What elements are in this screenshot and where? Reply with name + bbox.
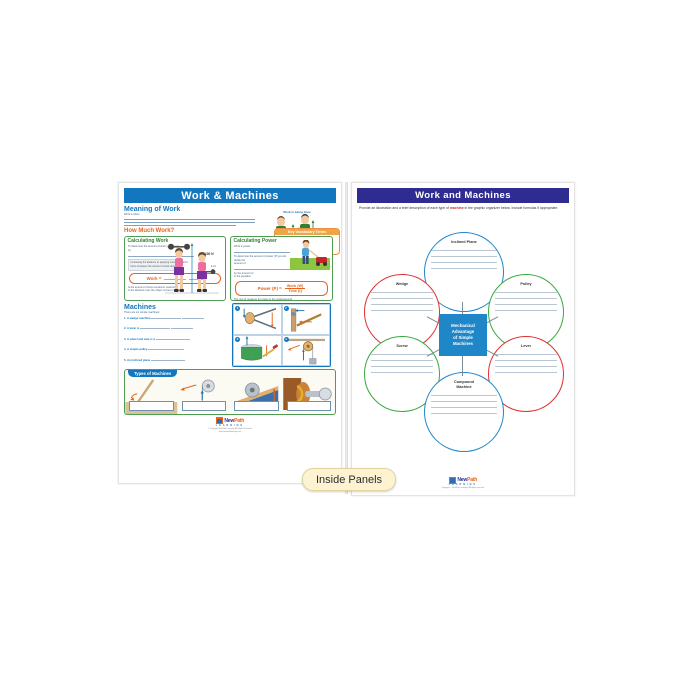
writing-line[interactable] (371, 354, 433, 355)
writing-line[interactable] (371, 304, 433, 305)
answer-blank[interactable] (140, 325, 170, 329)
writing-line[interactable] (371, 298, 433, 299)
writing-line[interactable] (124, 219, 256, 220)
bubble-writing-lines (425, 395, 503, 413)
power-formula-box: Power (P) = Work (W) Time (t) (235, 281, 328, 296)
weightlifter-illustration: 2 m 1 m 100 N (159, 241, 221, 297)
type-machine-cell (283, 376, 336, 414)
inside-panels-label: Inside Panels (316, 474, 382, 486)
writing-line[interactable] (431, 256, 497, 257)
diagram-number-badge: 3 (235, 337, 240, 342)
diagram-number-badge: 4 (284, 337, 289, 342)
writing-line[interactable] (124, 222, 256, 223)
writing-line[interactable] (124, 225, 236, 226)
type-machine-cell (230, 376, 283, 414)
svg-text:100 N: 100 N (205, 252, 214, 256)
writing-line[interactable] (371, 360, 433, 361)
left-panel: Work & Machines Meaning of Work Work is … (118, 182, 342, 484)
machine-diagram-cell: 2 (282, 304, 331, 335)
machine-item-label: 5. An inclined plane (124, 358, 150, 362)
writing-line[interactable] (431, 395, 497, 396)
wheel-and-axle-diagram (234, 305, 281, 334)
answer-blank[interactable] (148, 346, 184, 350)
machine-item-label: 3. A wheel and axle is a (124, 337, 155, 341)
diagram-number-badge: 2 (284, 306, 289, 311)
bubble-writing-lines (489, 292, 563, 310)
type-machine-answer-box[interactable] (182, 401, 227, 411)
list-item: 2. A lever is (124, 325, 228, 332)
meaning-prompt: Work is when (124, 213, 256, 217)
type-machine-answer-box[interactable] (129, 401, 174, 411)
worksheet-instructions: Provide an illustration and a brief desc… (359, 206, 567, 211)
instructions-keyword: machine (450, 206, 464, 210)
newpath-copyright: Copyright © NewPath Learning. All rights… (442, 487, 485, 490)
type-machine-answer-box[interactable] (234, 401, 279, 411)
calculating-work-box: Calculating Work (124, 236, 226, 301)
lawn-mower-illustration (290, 240, 330, 270)
machine-item-label: 2. A lever is (124, 326, 139, 330)
writing-line[interactable] (495, 366, 557, 367)
answer-blank[interactable] (156, 336, 190, 340)
list-item: 4. A simple pulley (124, 346, 228, 353)
svg-text:2 m: 2 m (183, 260, 189, 264)
writing-line[interactable] (495, 372, 557, 373)
svg-text:1 m: 1 m (211, 264, 217, 268)
writing-line[interactable] (431, 407, 497, 408)
screwdriver-lever-diagram (234, 336, 281, 365)
calc-power-footnote: The unit of measure for power is the jou… (234, 298, 329, 301)
list-item: 3. A wheel and axle is a (124, 336, 228, 343)
writing-line[interactable] (431, 401, 497, 402)
power-fraction: Work (W) Time (t) (285, 284, 306, 293)
writing-line[interactable] (495, 310, 557, 311)
bubble-writing-lines (365, 292, 439, 310)
types-of-machines-title: Types of Machines (128, 369, 177, 377)
machine-diagram-cell: 4 (282, 335, 331, 366)
bubble-writing-lines (489, 354, 563, 372)
type-machine-cell (178, 376, 231, 414)
types-of-machines-section: Types of Machines (124, 369, 336, 415)
calculating-power-box: Calculating Power (230, 236, 333, 301)
power-formula-denominator: Time (t) (288, 289, 302, 293)
writing-line[interactable] (495, 304, 557, 305)
list-item: 5. An inclined plane (124, 357, 228, 364)
answer-blank[interactable] (182, 315, 204, 319)
newpath-logo-left: NewPath LEARNING © Copyright NewPath Lea… (124, 417, 336, 434)
writing-line[interactable] (371, 372, 433, 373)
instructions-part-1: Provide an illustration and a brief desc… (359, 206, 450, 210)
svg-text:Work is being done: Work is being done (283, 210, 311, 214)
right-panel-title: Work and Machines (357, 188, 569, 203)
bubble-writing-lines (425, 250, 503, 268)
machines-section: Machines There are six simple machines: … (124, 303, 228, 367)
newpath-website: www.newpathlearning.com (219, 431, 242, 434)
type-machine-answer-box[interactable] (287, 401, 332, 411)
diagram-number-badge: 1 (235, 306, 240, 311)
writing-line[interactable] (431, 262, 497, 263)
pulley-diagram (283, 336, 330, 365)
type-machine-cell (125, 376, 178, 414)
bubble-label: Inclined Plane (425, 233, 503, 245)
answer-blank[interactable] (151, 315, 181, 319)
bubble-compound-machine[interactable]: Compound Machine (424, 372, 504, 452)
machines-heading: Machines (124, 304, 228, 311)
machines-diagram-grid: 1 2 (232, 303, 331, 367)
inside-panels-badge: Inside Panels (302, 468, 396, 491)
writing-line[interactable] (371, 292, 433, 293)
writing-line[interactable] (495, 292, 557, 293)
writing-line[interactable] (431, 268, 497, 269)
poster-spread: Work & Machines Meaning of Work Work is … (118, 182, 582, 494)
power-formula-label: Power (P) = (258, 286, 282, 291)
center-concept-box: Mechanical Advantage of Simple Machines (439, 314, 487, 356)
calc-power-line-4: in the equation (234, 275, 329, 279)
meaning-of-work-writing-lines: Work is when (124, 213, 256, 226)
list-item: 1. A wedge machine (124, 315, 228, 322)
newpath-logo-mark (216, 417, 223, 424)
poster-canvas: Work & Machines Meaning of Work Work is … (0, 0, 700, 700)
writing-line[interactable] (371, 366, 433, 367)
machine-item-label: 1. A wedge machine (124, 316, 151, 320)
right-panel: Work and Machines Provide an illustratio… (351, 182, 575, 496)
writing-line[interactable] (431, 413, 497, 414)
right-panel-body: Provide an illustration and a brief desc… (352, 206, 574, 492)
machines-list: 1. A wedge machine 2. A lever is 3. A wh (124, 315, 228, 364)
center-label-line: Machines (453, 341, 473, 347)
hammer-lever-diagram (283, 305, 330, 334)
instructions-part-2: in the graphic organizer below. Include … (464, 206, 558, 210)
machine-item-label: 4. A simple pulley (124, 347, 147, 351)
left-panel-title: Work & Machines (124, 188, 336, 203)
writing-line[interactable] (495, 354, 557, 355)
bubble-writing-lines (365, 354, 439, 372)
writing-line[interactable] (495, 360, 557, 361)
left-panel-body: Meaning of Work Work is when Work is bei… (119, 206, 341, 434)
writing-line[interactable] (431, 250, 497, 251)
machine-diagram-cell: 3 (233, 335, 282, 366)
machine-diagram-cell: 1 (233, 304, 282, 335)
answer-blank[interactable] (171, 325, 193, 329)
graphic-organizer: Inclined Plane Wedge (352, 232, 574, 460)
answer-blank[interactable] (151, 357, 185, 361)
writing-line[interactable] (371, 310, 433, 311)
newpath-logo-mark (449, 477, 456, 484)
writing-line[interactable] (495, 298, 557, 299)
